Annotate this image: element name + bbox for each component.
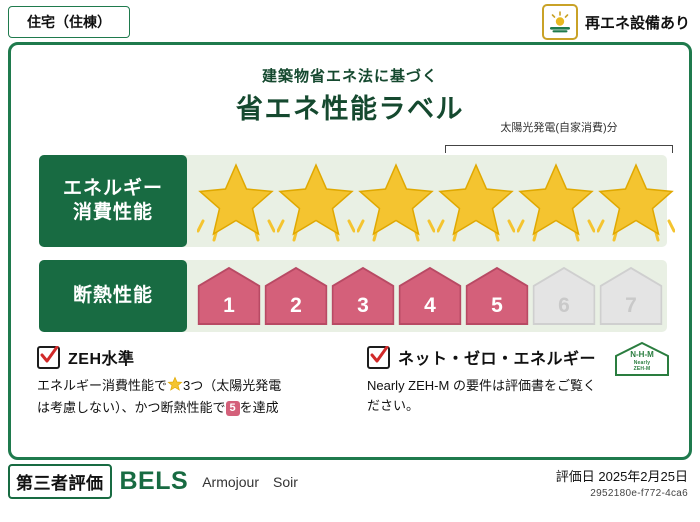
nz-body-part1: Nearly ZEH-M の要件は評価書をご覧く	[367, 378, 596, 393]
inline-star-icon	[167, 376, 183, 398]
bels-energy-label-page: 住宅（住棟） 再エネ設備あり 建築物省エネ法に基づく 省エネ性能ラベル	[0, 0, 700, 522]
footer: 第三者評価 BELS Armojour Soir 評価日 2025年2月25日 …	[0, 462, 700, 520]
category-tag: 住宅（住棟）	[8, 6, 130, 38]
zeh-body-part4: を達成	[240, 400, 279, 415]
logo-line2: ZEH-M	[613, 366, 671, 372]
net-zero-energy-criterion: ネット・ゼロ・エネルギー N-H-M Nearly ZEH-M Nearly Z…	[367, 345, 671, 416]
evaluation-id: 2952180e-f772-4ca6	[556, 488, 688, 499]
insulation-level-number: 1	[223, 295, 235, 322]
insulation-level-block: 6	[532, 266, 596, 326]
renewable-energy-label: 再エネ設備あり	[585, 12, 690, 33]
energy-star-rating	[197, 155, 663, 247]
star-icon	[357, 159, 435, 243]
evaluation-date: 評価日 2025年2月25日	[556, 466, 688, 485]
label-panel: 建築物省エネ法に基づく 省エネ性能ラベル エネルギー 消費性能 太陽光発電(自家…	[8, 42, 692, 460]
insulation-level-number: 3	[357, 295, 369, 322]
inline-level-badge: 5	[226, 401, 240, 416]
building-name: Armojour Soir	[202, 472, 298, 492]
insulation-performance-label: 断熱性能	[39, 260, 187, 332]
checkbox-checked-icon	[367, 346, 390, 369]
criteria-section: ZEH水準 エネルギー消費性能で3つ（太陽光発電 は考慮しない）、かつ断熱性能で…	[37, 345, 671, 455]
insulation-level-scale: 1 2 3	[197, 260, 663, 332]
insulation-level-number: 2	[290, 295, 302, 322]
sun-icon	[542, 4, 578, 40]
zeh-criterion-title: ZEH水準	[68, 345, 135, 369]
energy-label-line1: エネルギー	[63, 177, 163, 201]
nz-body-part2: ださい。	[367, 398, 419, 413]
solar-bracket-label: 太陽光発電(自家消費)分	[439, 119, 679, 135]
zeh-criterion-body: エネルギー消費性能で3つ（太陽光発電 は考慮しない）、かつ断熱性能で5を達成	[37, 376, 337, 418]
solar-self-consumption-bracket: 太陽光発電(自家消費)分	[439, 131, 679, 155]
energy-label-line2: 消費性能	[73, 201, 153, 225]
third-party-eval-label: 第三者評価	[8, 464, 112, 499]
zeh-body-part1: エネルギー消費性能で	[37, 378, 167, 393]
bels-logo-text: BELS	[120, 467, 189, 496]
insulation-level-number: 4	[424, 295, 436, 322]
insulation-level-block: 4	[398, 266, 462, 326]
insulation-level-number: 5	[491, 295, 503, 322]
insulation-label-text: 断熱性能	[73, 284, 153, 308]
star-icon	[597, 159, 675, 243]
net-zero-criterion-body: Nearly ZEH-M の要件は評価書をご覧く ださい。	[367, 376, 671, 416]
nearly-zeh-m-logo: N-H-M Nearly ZEH-M	[613, 341, 671, 377]
zeh-criterion: ZEH水準 エネルギー消費性能で3つ（太陽光発電 は考慮しない）、かつ断熱性能で…	[37, 345, 337, 418]
logo-mark-text: N-H-M	[613, 350, 671, 359]
net-zero-criterion-title: ネット・ゼロ・エネルギー	[398, 345, 596, 369]
energy-performance-row: エネルギー 消費性能 太陽光発電(自家消費)分	[39, 155, 667, 247]
renewable-energy-badge: 再エネ設備あり	[542, 4, 690, 40]
checkbox-checked-icon	[37, 346, 60, 369]
star-icon	[197, 159, 275, 243]
insulation-level-number: 7	[625, 295, 637, 322]
insulation-performance-row: 断熱性能 1 2	[39, 260, 667, 332]
zeh-body-part2: 3つ（太陽光発電	[183, 378, 281, 393]
zeh-body-part3: は考慮しない）、かつ断熱性能で	[37, 400, 226, 415]
star-icon	[277, 159, 355, 243]
star-icon	[517, 159, 595, 243]
insulation-level-block: 3	[331, 266, 395, 326]
insulation-level-block: 5	[465, 266, 529, 326]
panel-subtitle: 建築物省エネ法に基づく	[11, 65, 689, 86]
insulation-level-block: 7	[599, 266, 663, 326]
star-icon	[437, 159, 515, 243]
insulation-level-block: 2	[264, 266, 328, 326]
insulation-level-number: 6	[558, 295, 570, 322]
energy-performance-label: エネルギー 消費性能	[39, 155, 187, 247]
insulation-level-block: 1	[197, 266, 261, 326]
